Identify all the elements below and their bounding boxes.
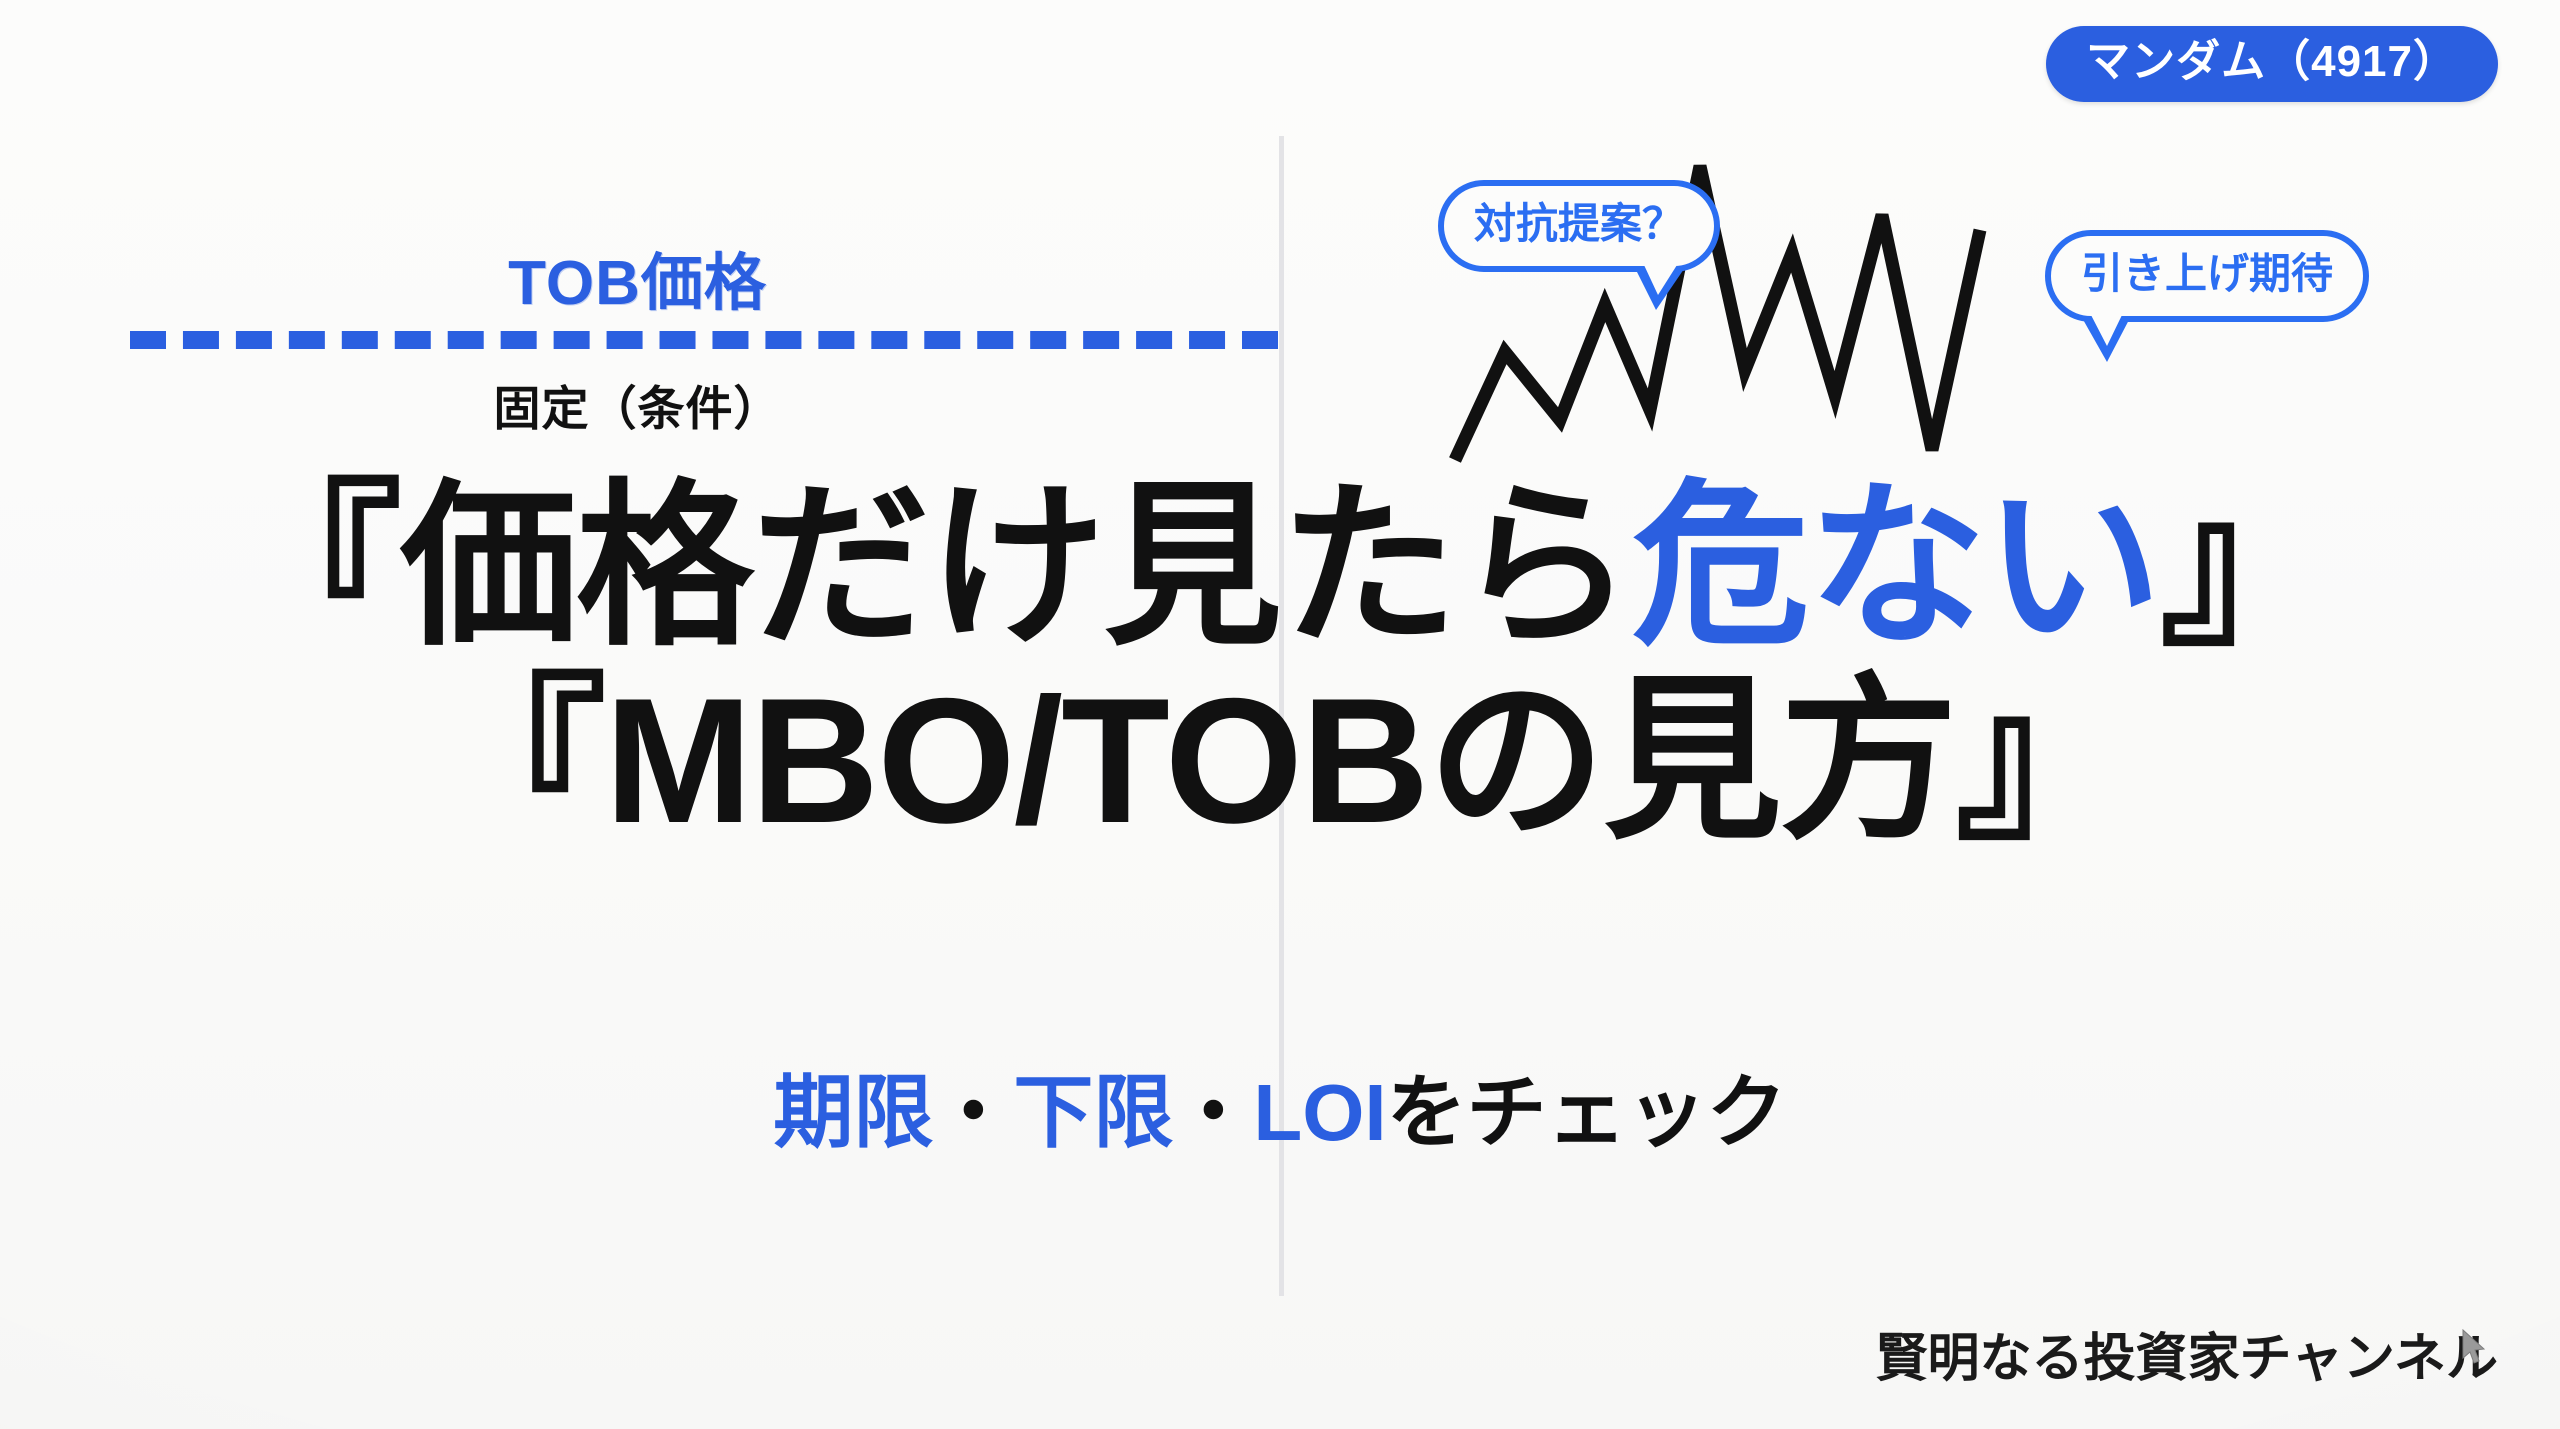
tob-price-label: TOB価格 — [0, 232, 1275, 322]
subtitle-separator-1: ・ — [933, 1068, 1013, 1157]
speech-bubble-counterproposal-label: 対抗提案？ — [1474, 200, 1684, 247]
speech-bubble-tail-inner-icon — [1644, 265, 1677, 295]
thumbnail-canvas: マンダム（4917） TOB価格 固定（条件） 対抗提案？ 引き上げ期待 『価格… — [0, 0, 2560, 1429]
speech-bubble-raise-expectation: 引き上げ期待 — [2045, 230, 2369, 322]
headline-line-1-post: 』 — [2160, 467, 2336, 666]
headline-line-1: 『価格だけ見たら危ない』 — [0, 470, 2560, 664]
headline-line-1-accent: 危ない — [1632, 467, 2160, 666]
headline-line-1-pre: 『価格だけ見たら — [224, 467, 1632, 666]
tob-condition-label: 固定（条件） — [0, 370, 1275, 439]
speech-bubble-raise-expectation-label: 引き上げ期待 — [2081, 250, 2333, 297]
tob-price-dashed-line — [130, 331, 1278, 349]
ticker-badge: マンダム（4917） — [2046, 26, 2498, 102]
subtitle-part-check: をチェック — [1387, 1068, 1787, 1157]
speech-bubble-counterproposal: 対抗提案？ — [1438, 180, 1720, 272]
subtitle-separator-2: ・ — [1173, 1068, 1253, 1157]
subtitle-part-loi: LOI — [1253, 1068, 1386, 1157]
subtitle-line: 期限・下限・LOIをチェック — [0, 1048, 2560, 1164]
speech-bubble-tail-inner-icon — [2091, 315, 2122, 346]
subtitle-part-deadline: 期限 — [773, 1068, 933, 1157]
subtitle-part-minimum: 下限 — [1013, 1068, 1173, 1157]
headline-block: 『価格だけ見たら危ない』 『MBO/TOBの見方』 — [0, 470, 2560, 858]
headline-line-2: 『MBO/TOBの見方』 — [0, 664, 2560, 858]
channel-name: 賢明なる投資家チャンネル — [1876, 1316, 2498, 1391]
